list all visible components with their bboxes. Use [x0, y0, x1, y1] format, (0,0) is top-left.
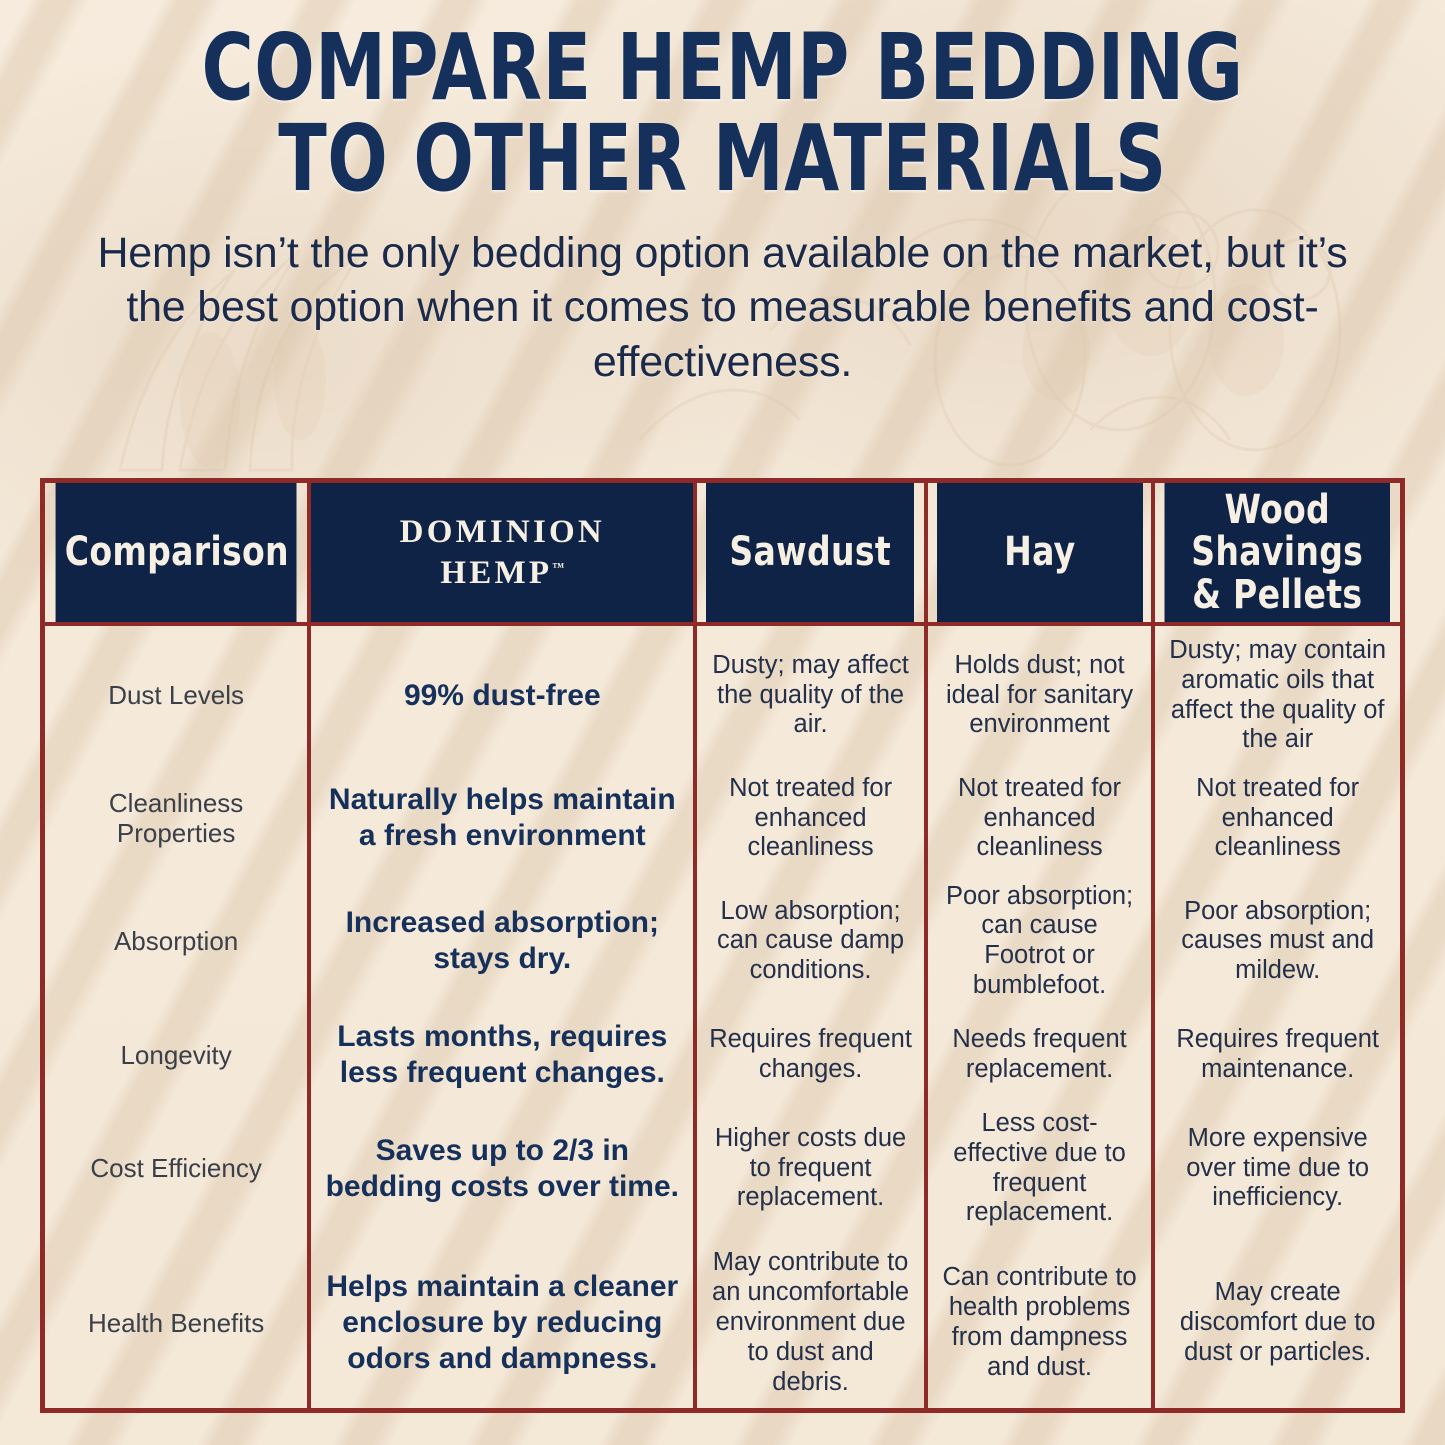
cell-wood-dust-levels: Dusty; may contain aromatic oils that af… — [1153, 624, 1400, 765]
table-row: Dust Levels 99% dust-free Dusty; may aff… — [45, 624, 1400, 765]
row-label-cleanliness-properties: Cleanliness Properties — [45, 765, 309, 872]
cell-hemp-cleanliness-properties: Naturally helps maintain a fresh environ… — [309, 765, 695, 872]
cell-sawdust-absorption: Low absorption; can cause damp condition… — [695, 872, 925, 1011]
column-header-sawdust: Sawdust — [705, 483, 917, 624]
cell-hay-longevity: Needs frequent replacement. — [926, 1011, 1154, 1100]
cell-sawdust-health-benefits: May contribute to an uncomfortable envir… — [695, 1238, 925, 1408]
comparison-table-container: Comparison DOMINION HEMP™ Sawdust Hay Wo… — [40, 478, 1405, 1413]
wood-header-line-1: Wood Shavings — [1174, 489, 1381, 574]
table-row: Absorption Increased absorption; stays d… — [45, 872, 1400, 1011]
cell-wood-longevity: Requires frequent maintenance. — [1153, 1011, 1400, 1100]
comparison-table: Comparison DOMINION HEMP™ Sawdust Hay Wo… — [45, 483, 1400, 1408]
table-body: Dust Levels 99% dust-free Dusty; may aff… — [45, 624, 1400, 1408]
cell-sawdust-longevity: Requires frequent changes. — [695, 1011, 925, 1100]
cell-hemp-absorption: Increased absorption; stays dry. — [309, 872, 695, 1011]
cell-wood-absorption: Poor absorption; causes must and mildew. — [1153, 872, 1400, 1011]
column-header-wood-shavings-pellets: Wood Shavings & Pellets — [1163, 483, 1390, 624]
column-header-dominion-hemp: DOMINION HEMP™ — [309, 483, 695, 624]
table-header-row: Comparison DOMINION HEMP™ Sawdust Hay Wo… — [45, 483, 1400, 624]
column-header-comparison: Comparison — [56, 483, 299, 624]
cell-sawdust-cleanliness-properties: Not treated for enhanced cleanliness — [695, 765, 925, 872]
cell-hay-cleanliness-properties: Not treated for enhanced cleanliness — [926, 765, 1154, 872]
trademark-icon: ™ — [552, 560, 564, 574]
cell-wood-cost-efficiency: More expensive over time due to ineffici… — [1153, 1099, 1400, 1238]
header: COMPARE HEMP BEDDING TO OTHER MATERIALS … — [0, 0, 1445, 389]
row-label-cost-efficiency: Cost Efficiency — [45, 1099, 309, 1238]
table-row: Cleanliness Properties Naturally helps m… — [45, 765, 1400, 872]
cell-wood-health-benefits: May create discomfort due to dust or par… — [1153, 1238, 1400, 1408]
cell-hay-cost-efficiency: Less cost-effective due to frequent repl… — [926, 1099, 1154, 1238]
cell-wood-cleanliness-properties: Not treated for enhanced cleanliness — [1153, 765, 1400, 872]
cell-hay-health-benefits: Can contribute to health problems from d… — [926, 1238, 1154, 1408]
table-row: Longevity Lasts months, requires less fr… — [45, 1011, 1400, 1100]
page-title-line-2: TO OTHER MATERIALS — [153, 113, 1293, 204]
cell-sawdust-dust-levels: Dusty; may affect the quality of the air… — [695, 624, 925, 765]
cell-hemp-cost-efficiency: Saves up to 2/3 in bedding costs over ti… — [309, 1099, 695, 1238]
row-label-absorption: Absorption — [45, 872, 309, 1011]
dominion-hemp-logo-line-1: DOMINION — [321, 512, 683, 552]
cell-sawdust-cost-efficiency: Higher costs due to frequent replacement… — [695, 1099, 925, 1238]
table-row: Cost Efficiency Saves up to 2/3 in beddi… — [45, 1099, 1400, 1238]
cell-hemp-dust-levels: 99% dust-free — [309, 624, 695, 765]
cell-hay-dust-levels: Holds dust; not ideal for sanitary envir… — [926, 624, 1154, 765]
wood-header-line-2: & Pellets — [1174, 574, 1381, 616]
row-label-dust-levels: Dust Levels — [45, 624, 309, 765]
cell-hemp-longevity: Lasts months, requires less frequent cha… — [309, 1011, 695, 1100]
dominion-hemp-logo-line-2: HEMP™ — [321, 553, 683, 593]
page-title: COMPARE HEMP BEDDING TO OTHER MATERIALS — [153, 22, 1293, 204]
row-label-longevity: Longevity — [45, 1011, 309, 1100]
infographic-page: COMPARE HEMP BEDDING TO OTHER MATERIALS … — [0, 0, 1445, 1445]
cell-hemp-health-benefits: Helps maintain a cleaner enclosure by re… — [309, 1238, 695, 1408]
column-header-hay: Hay — [935, 483, 1144, 624]
table-row: Health Benefits Helps maintain a cleaner… — [45, 1238, 1400, 1408]
row-label-health-benefits: Health Benefits — [45, 1238, 309, 1408]
logo-hemp-word: HEMP — [440, 555, 552, 591]
cell-hay-absorption: Poor absorption; can cause Footrot or bu… — [926, 872, 1154, 1011]
table-header: Comparison DOMINION HEMP™ Sawdust Hay Wo… — [45, 483, 1400, 624]
page-subtitle: Hemp isn’t the only bedding option avail… — [88, 226, 1358, 389]
